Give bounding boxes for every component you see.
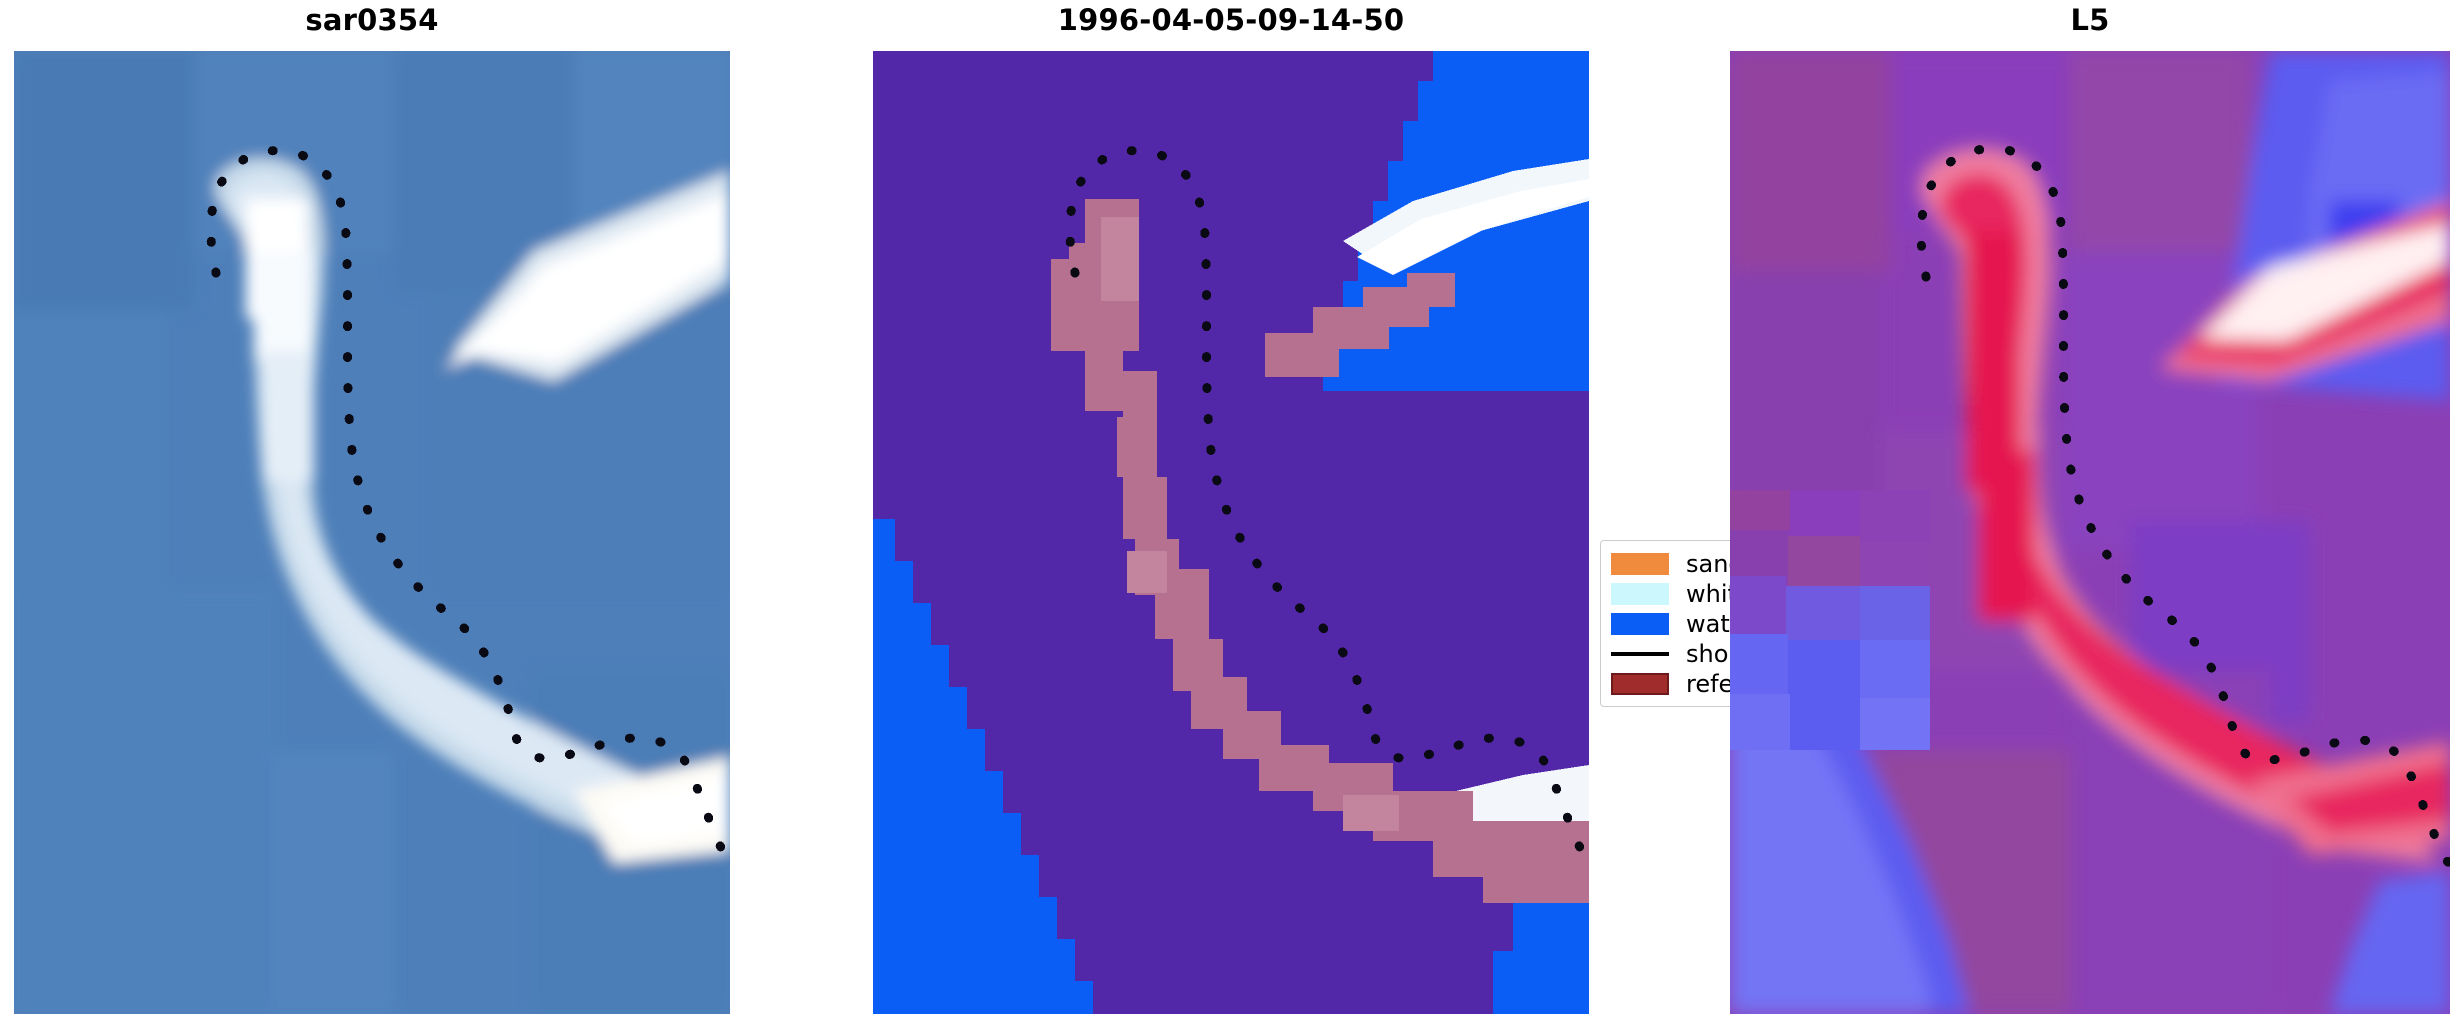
legend-swatch-water — [1611, 613, 1669, 635]
l5-occlusion-pixels — [1730, 490, 1930, 750]
panel-title-sar: sar0354 — [14, 6, 730, 35]
panel-classified[interactable] — [873, 51, 1589, 1014]
panel-sar[interactable] — [14, 51, 730, 1014]
panel-l5-occlusion-strip — [1730, 490, 1930, 750]
classification-image — [873, 51, 1589, 1014]
legend-swatch-whitewater — [1611, 583, 1669, 605]
panel-title-l5: L5 — [1730, 6, 2450, 35]
panel-title-classified: 1996-04-05-09-14-50 — [873, 6, 1589, 35]
sar-image — [14, 51, 730, 1014]
legend-swatch-reference-shoreline — [1611, 673, 1669, 695]
figure-root: sar0354 — [0, 0, 2460, 1031]
legend-swatch-sand — [1611, 553, 1669, 575]
legend-swatch-shoreline — [1611, 652, 1669, 656]
